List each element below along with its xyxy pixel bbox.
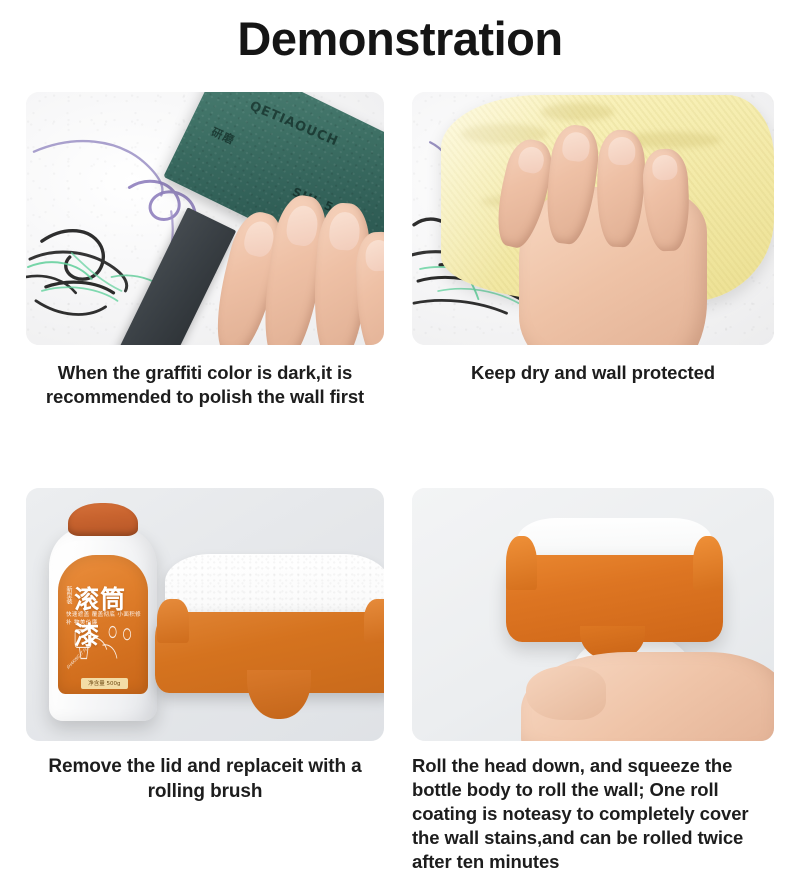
step-4-caption: Roll the head down, and squeeze the bott… bbox=[412, 754, 774, 874]
fingernail bbox=[285, 203, 320, 247]
roller-arm-right bbox=[364, 599, 384, 643]
fingernail bbox=[366, 239, 384, 271]
step-card-2: Keep dry and wall protected bbox=[400, 92, 800, 410]
roller-neck bbox=[247, 670, 310, 719]
thumb bbox=[526, 666, 606, 719]
fingernail bbox=[608, 136, 635, 165]
fingernail bbox=[561, 131, 591, 163]
paint-bottle: 新型装 滚筒漆 快速遮盖 覆盖彻底 小面积修补 物美价廉 bbox=[49, 503, 156, 721]
step-1-photo: QETIAOUCH 研磨 SHL 5 bbox=[26, 92, 384, 345]
hand bbox=[521, 640, 774, 741]
label-illustration-icon: SHAKING IT FLAT bbox=[65, 621, 137, 674]
steps-row-bottom: 新型装 滚筒漆 快速遮盖 覆盖彻底 小面积修补 物美价廉 bbox=[0, 488, 800, 874]
roller-brush-head bbox=[155, 554, 384, 716]
step-3-photo: 新型装 滚筒漆 快速遮盖 覆盖彻底 小面积修补 物美价廉 bbox=[26, 488, 384, 741]
svg-text:SHAKING IT FLAT: SHAKING IT FLAT bbox=[66, 641, 91, 670]
step-card-4: Roll the head down, and squeeze the bott… bbox=[400, 488, 800, 874]
step-2-photo bbox=[412, 92, 774, 345]
step-card-3: 新型装 滚筒漆 快速遮盖 覆盖彻底 小面积修补 物美价廉 bbox=[0, 488, 400, 874]
finger bbox=[355, 231, 384, 345]
roller-arm-right bbox=[693, 536, 723, 590]
fingernail bbox=[516, 144, 546, 175]
step-4-photo bbox=[412, 488, 774, 741]
roller-arm-left bbox=[157, 599, 189, 643]
step-2-caption: Keep dry and wall protected bbox=[412, 361, 774, 385]
bottle-label: 新型装 滚筒漆 快速遮盖 覆盖彻底 小面积修补 物美价廉 bbox=[58, 555, 148, 694]
bottle-cap bbox=[68, 503, 139, 536]
steps-grid: QETIAOUCH 研磨 SHL 5 When the graffiti col… bbox=[0, 92, 800, 874]
roller-arm-left bbox=[506, 536, 536, 590]
hand bbox=[212, 178, 384, 345]
cloth-fold bbox=[541, 103, 614, 122]
step-3-caption: Remove the lid and replaceit with a roll… bbox=[26, 754, 384, 804]
fingernail bbox=[328, 212, 360, 252]
fingernail bbox=[652, 154, 678, 180]
demonstration-page: Demonstration bbox=[0, 0, 800, 800]
hand bbox=[492, 125, 716, 345]
roller-brush-head bbox=[506, 518, 723, 650]
label-side-text: 新型装 bbox=[64, 586, 71, 604]
page-title: Demonstration bbox=[0, 14, 800, 63]
steps-row-top: QETIAOUCH 研磨 SHL 5 When the graffiti col… bbox=[0, 92, 800, 410]
label-net-weight-badge: 净含量 500g bbox=[81, 678, 127, 689]
step-card-1: QETIAOUCH 研磨 SHL 5 When the graffiti col… bbox=[0, 92, 400, 410]
step-1-caption: When the graffiti color is dark,it is re… bbox=[26, 361, 384, 410]
